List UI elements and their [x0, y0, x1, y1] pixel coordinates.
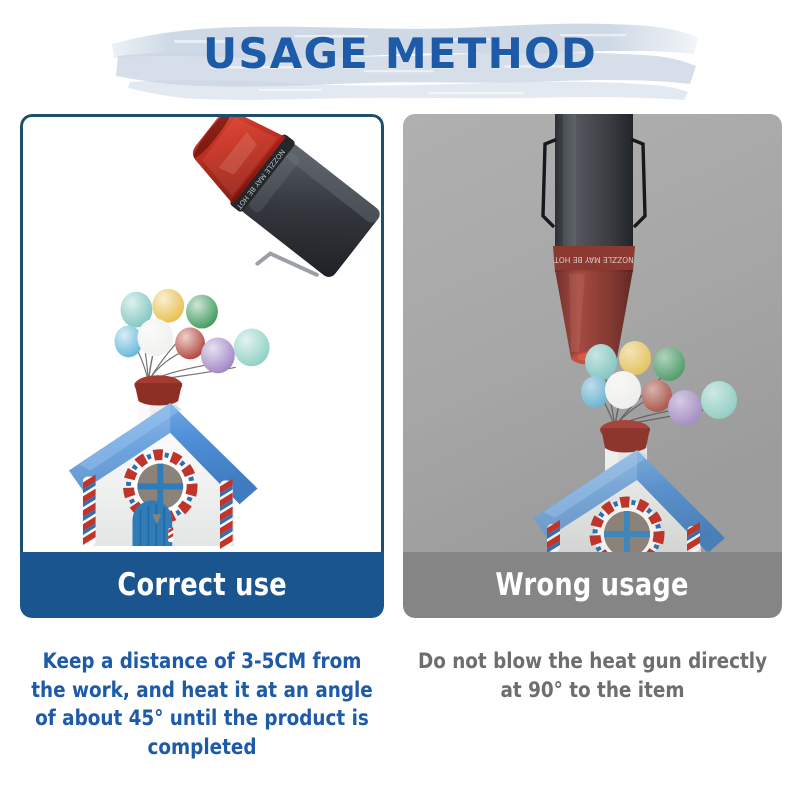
description-correct-use: Keep a distance of 3-5CM from the work, …: [29, 648, 375, 762]
page-title: USAGE METHOD: [0, 29, 800, 78]
photo-correct-use: NOZZLE MAY BE HOT: [20, 114, 384, 552]
photo-wrong-usage: NOZZLE MAY BE HOT: [403, 114, 782, 552]
caption-bar-wrong: Wrong usage: [403, 552, 782, 618]
caption-correct-use: Correct use: [117, 567, 287, 603]
panel-correct-use: NOZZLE MAY BE HOT: [20, 114, 384, 618]
caption-wrong-usage: Wrong usage: [496, 567, 689, 603]
scene-wrong-usage: NOZZLE MAY BE HOT: [403, 114, 782, 552]
description-wrong-usage: Do not blow the heat gun directly at 90°…: [412, 648, 772, 705]
panel-wrong-usage: NOZZLE MAY BE HOT: [403, 114, 782, 618]
caption-bar-correct: Correct use: [20, 552, 384, 618]
header: USAGE METHOD: [0, 0, 800, 112]
infographic-page: USAGE METHOD: [0, 0, 800, 800]
svg-text:NOZZLE MAY BE HOT: NOZZLE MAY BE HOT: [554, 255, 634, 264]
scene-correct-use: NOZZLE MAY BE HOT: [23, 117, 381, 552]
